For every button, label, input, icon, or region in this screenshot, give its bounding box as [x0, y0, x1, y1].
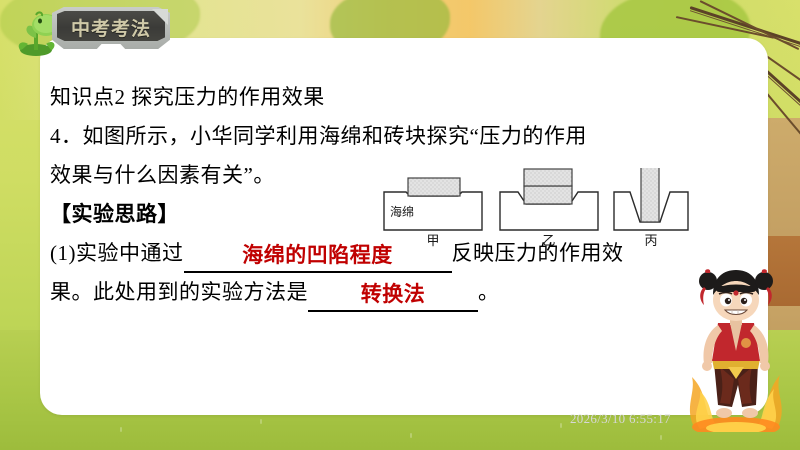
blank2-suffix-text: 。	[478, 280, 500, 304]
svg-text:海绵: 海绵	[390, 204, 414, 219]
figure-jia: 海绵	[384, 178, 482, 230]
grass-speck	[410, 433, 412, 438]
knowledge-point-heading: 知识点2 探究压力的作用效果	[50, 78, 750, 117]
blank-line-2: 果。此处用到的实验方法是转换法。	[50, 273, 750, 312]
figure-label-yi: 乙	[519, 230, 579, 249]
figure-bing	[614, 168, 688, 230]
timestamp: 2026/3/10 6:55:17	[570, 411, 671, 427]
figure-yi	[500, 169, 598, 230]
grass-speck	[660, 435, 662, 440]
figure-label-jia: 甲	[403, 230, 463, 249]
grass-speck	[560, 423, 562, 428]
slide-canvas: 中考考法 知识点2 探究压力的作用效果 4．如图所示，小华同学利用海绵和砖块探究…	[0, 0, 800, 450]
grass-speck	[260, 419, 262, 424]
blank2-answer[interactable]: 转换法	[308, 278, 478, 312]
banner: 中考考法	[52, 7, 170, 49]
nezha-character	[680, 267, 792, 432]
blank1-prefix-text: (1)实验中通过	[50, 241, 184, 265]
question-line-1: 4．如图所示，小华同学利用海绵和砖块探究“压力的作用	[50, 117, 750, 156]
experiment-figure: 海绵 甲 乙 丙	[382, 168, 722, 244]
figure-label-bing: 丙	[621, 230, 681, 249]
grass-speck	[120, 427, 122, 432]
banner-title: 中考考法	[52, 14, 170, 41]
blank2-prefix-text: 果。此处用到的实验方法是	[50, 280, 308, 304]
